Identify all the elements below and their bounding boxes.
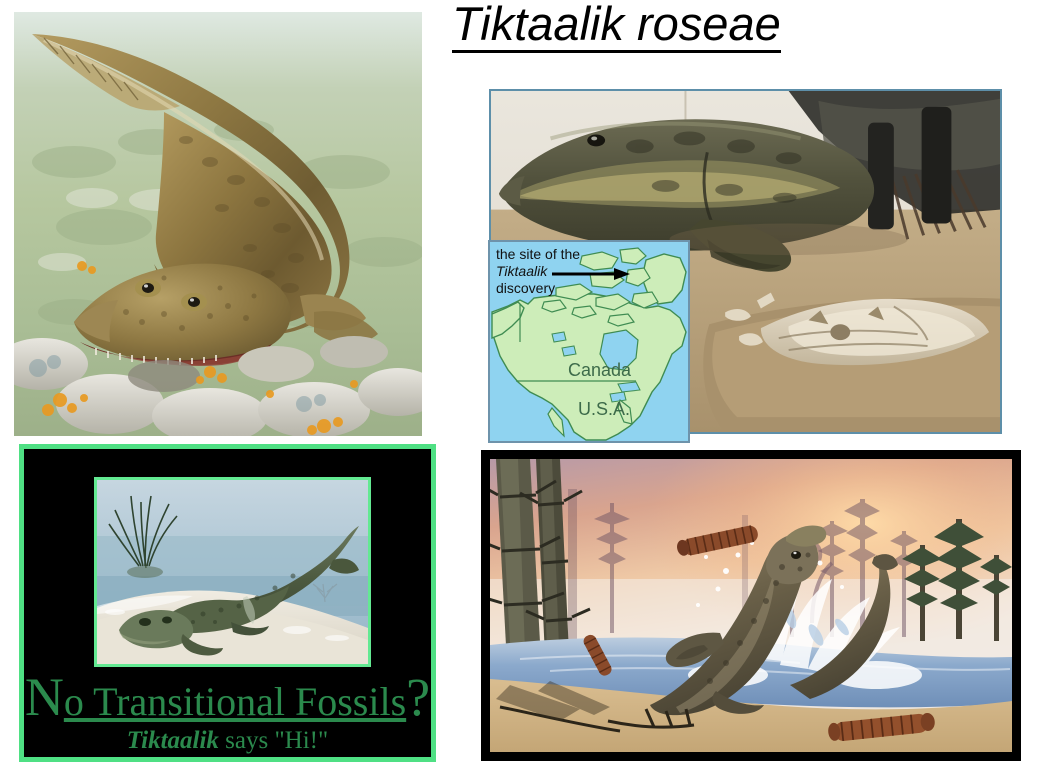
meme-headline-question: ? bbox=[406, 667, 430, 727]
map-caption-line3: discovery bbox=[496, 280, 555, 296]
meme-headline-rest: o Transitional Fossils bbox=[64, 679, 406, 724]
meme-headline-initial: N bbox=[25, 667, 64, 727]
tiktaalik-lunging-art bbox=[490, 459, 1012, 752]
meme-caption-block: No Transitional Fossils? Tiktaalik says … bbox=[24, 675, 431, 756]
map-caption-line1: the site of the bbox=[496, 246, 580, 262]
image-tiktaalik-illustration bbox=[14, 12, 422, 436]
meme-subline-rest: says "Hi!" bbox=[219, 727, 328, 754]
tiktaalik-shallow-water-art bbox=[14, 12, 422, 436]
map-label-usa: U.S.A. bbox=[578, 399, 630, 420]
meme-inner-image bbox=[94, 477, 371, 667]
map-label-canada: Canada bbox=[568, 360, 631, 381]
meme-subline: Tiktaalik says "Hi!" bbox=[24, 726, 431, 756]
meme-headline: No Transitional Fossils? bbox=[24, 675, 431, 724]
image-transitional-fossil-meme: No Transitional Fossils? Tiktaalik says … bbox=[19, 444, 436, 762]
meme-subline-species: Tiktaalik bbox=[127, 727, 219, 754]
image-discovery-site-map: the site of the Tiktaalik discovery Cana… bbox=[488, 240, 690, 443]
image-devonian-shoreline-scene bbox=[481, 450, 1021, 761]
tiktaalik-on-shore-art bbox=[97, 480, 368, 664]
map-pointer-arrow-icon bbox=[552, 268, 630, 280]
map-caption-species: Tiktaalik bbox=[496, 263, 547, 279]
page-title: Tiktaalik roseae bbox=[452, 0, 781, 53]
